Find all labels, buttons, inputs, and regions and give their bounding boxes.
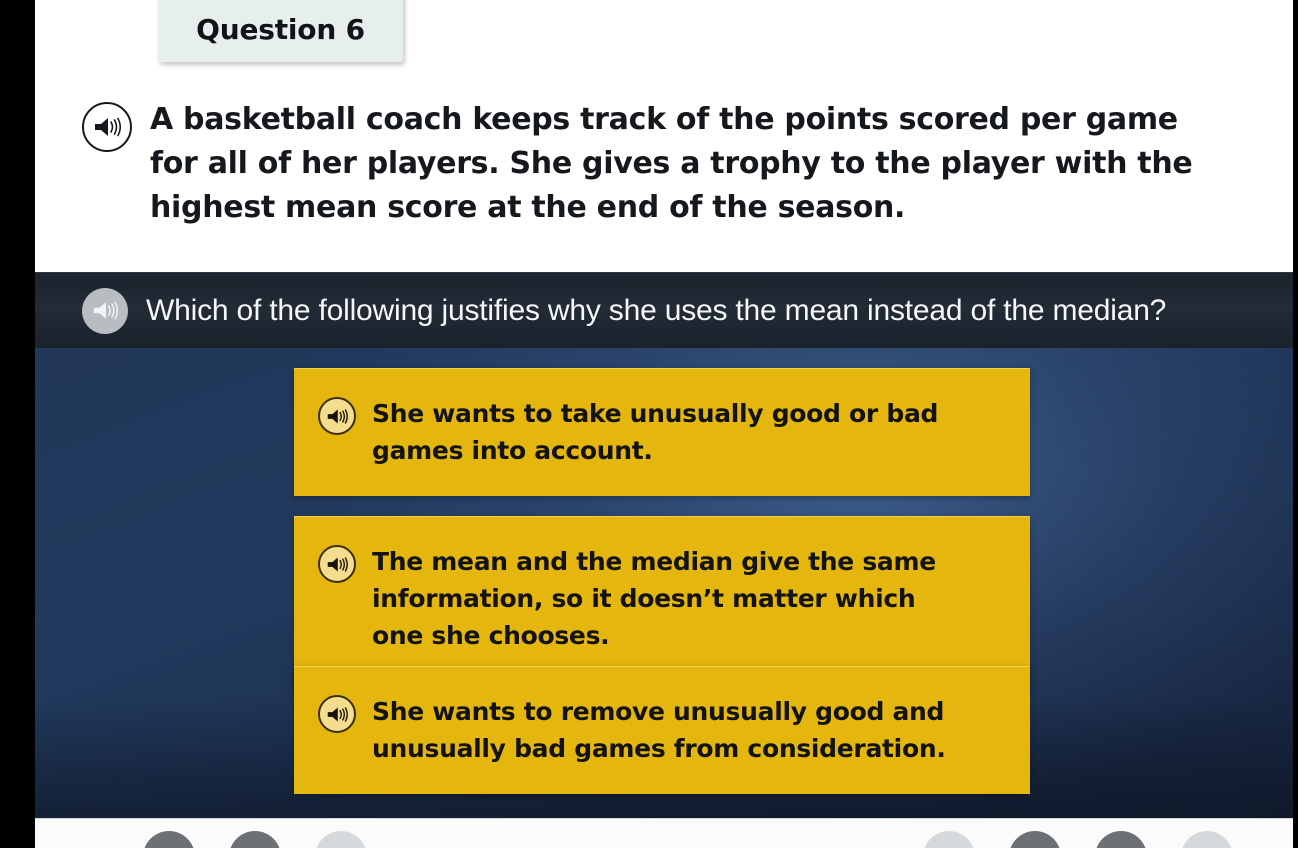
question-number-tab[interactable]: Question 6 (158, 0, 403, 62)
speaker-icon[interactable] (318, 695, 356, 733)
letterbox-bar-right (1293, 0, 1298, 848)
answer-option-2[interactable]: The mean and the median give the same in… (294, 516, 1030, 688)
question-text: Which of the following justifies why she… (146, 294, 1166, 328)
letterbox-bar-left (0, 0, 35, 848)
prompt-row: A basketball coach keeps track of the po… (82, 98, 1232, 230)
bottom-toolbar (35, 818, 1293, 848)
dock-button-7[interactable] (1181, 831, 1233, 848)
toolbar-left-group (143, 831, 367, 848)
quiz-stage: Question 6 A basketball coach keeps trac… (35, 0, 1293, 848)
answer-option-3[interactable]: She wants to remove unusually good and u… (294, 666, 1030, 794)
speaker-icon[interactable] (318, 545, 356, 583)
dock-button-1[interactable] (143, 831, 195, 848)
dock-button-3[interactable] (315, 831, 367, 848)
dock-button-6[interactable] (1095, 831, 1147, 848)
answer-option-label: The mean and the median give the same in… (372, 543, 962, 654)
speaker-icon[interactable] (318, 397, 356, 435)
question-banner: Which of the following justifies why she… (35, 272, 1293, 348)
prompt-text: A basketball coach keeps track of the po… (150, 98, 1232, 230)
answer-options-area: She wants to take unusually good or bad … (35, 348, 1293, 818)
dock-button-5[interactable] (1009, 831, 1061, 848)
prompt-panel: Question 6 A basketball coach keeps trac… (35, 0, 1293, 272)
dock-button-4[interactable] (923, 831, 975, 848)
toolbar-right-group (923, 831, 1233, 848)
answer-option-1[interactable]: She wants to take unusually good or bad … (294, 368, 1030, 496)
speaker-icon[interactable] (82, 288, 128, 334)
question-number-label: Question 6 (196, 13, 365, 46)
dock-button-2[interactable] (229, 831, 281, 848)
speaker-icon[interactable] (82, 102, 132, 152)
answer-option-label: She wants to remove unusually good and u… (372, 693, 1008, 767)
quiz-screen: Question 6 A basketball coach keeps trac… (0, 0, 1298, 848)
answer-option-label: She wants to take unusually good or bad … (372, 395, 972, 469)
